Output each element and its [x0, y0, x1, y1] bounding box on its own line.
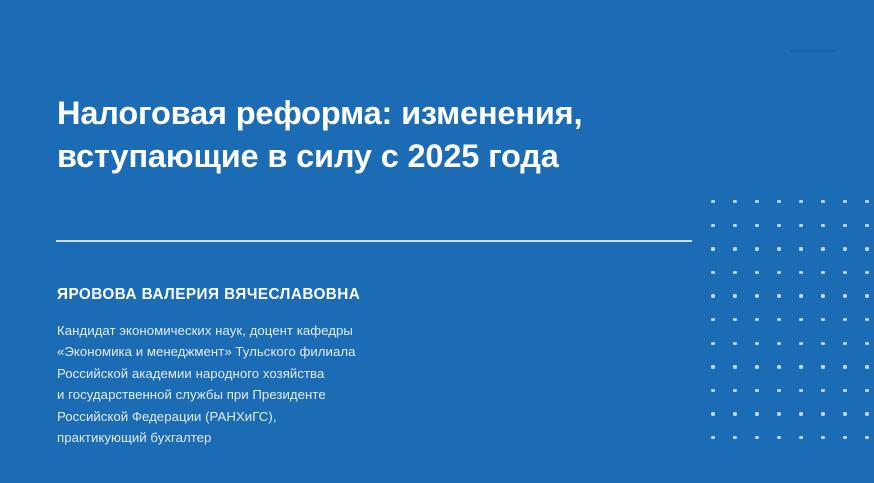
- grid-dot: [733, 294, 736, 297]
- grid-dot: [733, 224, 736, 227]
- grid-dot: [821, 224, 824, 227]
- grid-dot: [865, 318, 868, 321]
- grid-dot: [821, 365, 824, 368]
- grid-dot: [799, 318, 802, 321]
- grid-dot: [843, 294, 846, 297]
- grid-dot: [821, 294, 824, 297]
- grid-dot: [821, 247, 824, 250]
- grid-dot: [843, 436, 846, 439]
- title-divider: [56, 240, 692, 242]
- grid-dot: [711, 389, 714, 392]
- grid-dot: [799, 412, 802, 415]
- grid-dot: [821, 436, 824, 439]
- grid-dot: [711, 436, 714, 439]
- grid-dot: [843, 412, 846, 415]
- grid-dot: [711, 271, 714, 274]
- grid-dot: [821, 271, 824, 274]
- accent-rule-decoration: [790, 50, 836, 52]
- grid-dot: [755, 342, 758, 345]
- grid-dot: [865, 294, 868, 297]
- grid-dot: [755, 436, 758, 439]
- grid-dot: [821, 318, 824, 321]
- grid-dot: [821, 412, 824, 415]
- grid-dot: [865, 342, 868, 345]
- grid-dot: [755, 412, 758, 415]
- grid-dot: [843, 342, 846, 345]
- grid-dot: [755, 389, 758, 392]
- grid-dot: [777, 224, 780, 227]
- grid-dot: [865, 389, 868, 392]
- grid-dot: [799, 294, 802, 297]
- grid-dot: [733, 318, 736, 321]
- grid-dot: [777, 365, 780, 368]
- grid-dot: [755, 200, 758, 203]
- grid-dot: [799, 365, 802, 368]
- grid-dot: [733, 200, 736, 203]
- grid-dot: [777, 342, 780, 345]
- grid-dot: [711, 318, 714, 321]
- grid-dot: [843, 200, 846, 203]
- grid-dot: [755, 271, 758, 274]
- grid-dot: [777, 436, 780, 439]
- grid-dot: [865, 200, 868, 203]
- grid-dot: [865, 365, 868, 368]
- grid-dot: [799, 436, 802, 439]
- grid-dot: [733, 342, 736, 345]
- grid-dot: [777, 294, 780, 297]
- grid-dot: [755, 365, 758, 368]
- grid-dot: [799, 247, 802, 250]
- grid-dot: [865, 271, 868, 274]
- grid-dot: [821, 389, 824, 392]
- grid-dot: [843, 365, 846, 368]
- grid-dot: [865, 436, 868, 439]
- grid-dot: [843, 247, 846, 250]
- title-slide: Налоговая реформа: изменения, вступающие…: [0, 0, 874, 483]
- grid-dot: [711, 224, 714, 227]
- grid-dot: [865, 412, 868, 415]
- grid-dot: [799, 342, 802, 345]
- grid-dot: [865, 247, 868, 250]
- grid-dot: [733, 436, 736, 439]
- grid-dot: [777, 271, 780, 274]
- grid-dot: [711, 294, 714, 297]
- grid-dot: [799, 271, 802, 274]
- grid-dot: [755, 224, 758, 227]
- grid-dot: [843, 389, 846, 392]
- grid-dot: [755, 318, 758, 321]
- grid-dot: [733, 389, 736, 392]
- grid-dot: [777, 200, 780, 203]
- slide-title: Налоговая реформа: изменения, вступающие…: [57, 92, 667, 177]
- author-name: ЯРОВОВА ВАЛЕРИЯ ВЯЧЕСЛАВОВНА: [57, 286, 360, 304]
- grid-dot: [777, 247, 780, 250]
- grid-dot: [777, 389, 780, 392]
- dot-grid-decoration: [702, 190, 868, 438]
- grid-dot: [711, 412, 714, 415]
- grid-dot: [733, 247, 736, 250]
- grid-dot: [843, 271, 846, 274]
- grid-dot: [711, 365, 714, 368]
- grid-dot: [821, 200, 824, 203]
- grid-dot: [799, 200, 802, 203]
- grid-dot: [711, 342, 714, 345]
- grid-dot: [755, 247, 758, 250]
- grid-dot: [799, 389, 802, 392]
- grid-dot: [733, 412, 736, 415]
- grid-dot: [777, 412, 780, 415]
- author-bio: Кандидат экономических наук, доцент кафе…: [57, 320, 487, 448]
- grid-dot: [711, 247, 714, 250]
- grid-dot: [865, 224, 868, 227]
- grid-dot: [843, 318, 846, 321]
- grid-dot: [799, 224, 802, 227]
- grid-dot: [843, 224, 846, 227]
- grid-dot: [755, 294, 758, 297]
- grid-dot: [733, 365, 736, 368]
- grid-dot: [711, 200, 714, 203]
- grid-dot: [733, 271, 736, 274]
- grid-dot: [821, 342, 824, 345]
- grid-dot: [777, 318, 780, 321]
